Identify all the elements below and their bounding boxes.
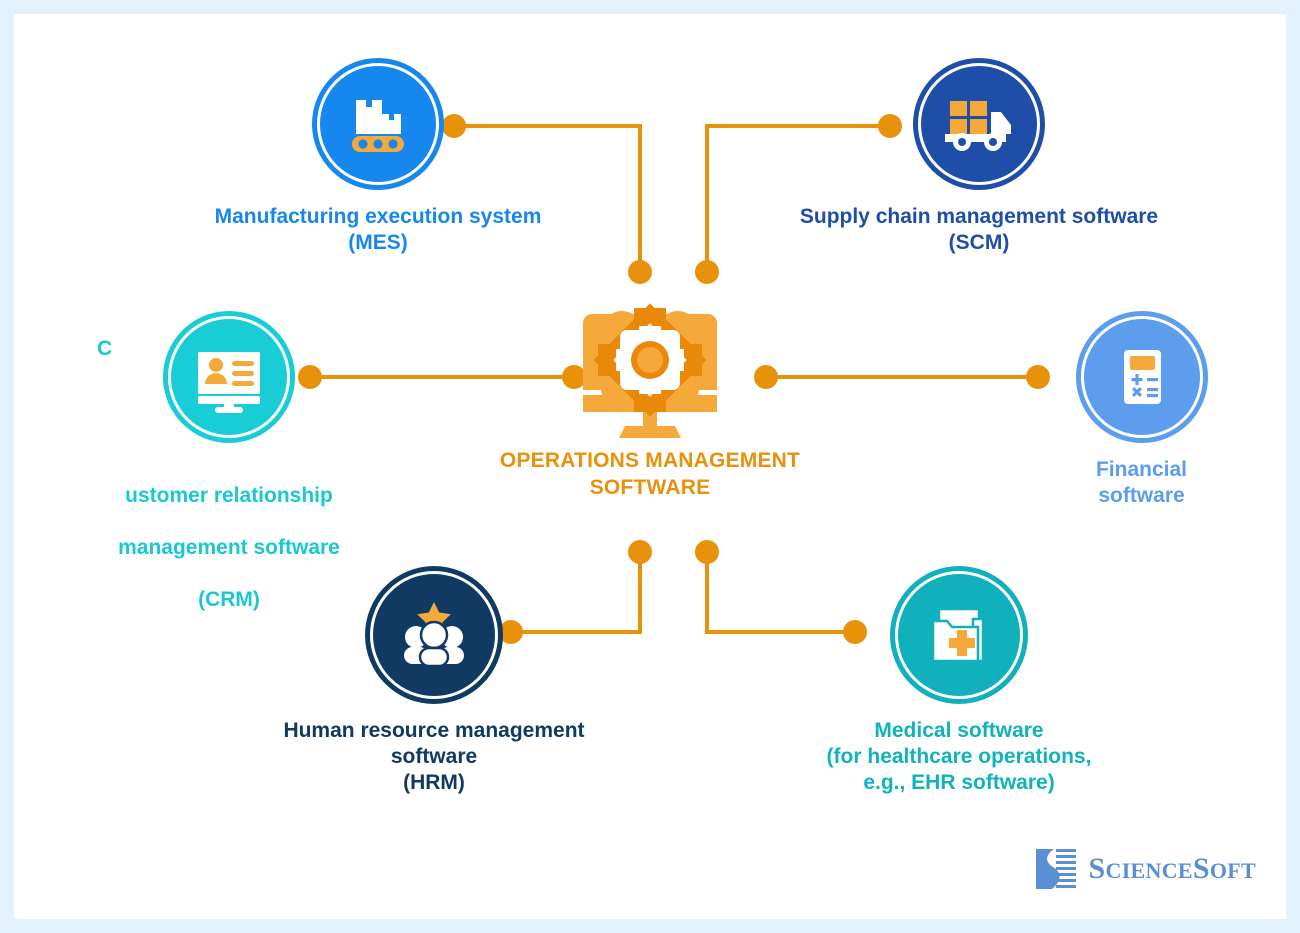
crm-icon-circle[interactable] <box>163 311 295 443</box>
hrm-label: Human resource management software (HRM) <box>224 718 644 796</box>
calculator-icon <box>1103 337 1181 417</box>
node-medical[interactable]: Medical software (for healthcare operati… <box>774 566 1144 796</box>
logo-text-s1: S <box>1089 852 1106 885</box>
people-star-icon <box>391 592 477 678</box>
scm-icon-circle[interactable] <box>913 58 1045 190</box>
crm-label-line-2: management software <box>69 535 389 561</box>
medical-icon-circle[interactable] <box>890 566 1028 704</box>
delivery-truck-icon <box>937 84 1021 164</box>
sciencesoft-wordmark: SCIENCESOFT <box>1089 852 1257 886</box>
logo-text-oft: OFT <box>1210 858 1256 883</box>
node-hrm[interactable]: Human resource management software (HRM) <box>224 566 644 796</box>
logo-text-cience: CIENCE <box>1106 858 1193 883</box>
logo-text-s2: S <box>1193 852 1210 885</box>
monitor-gears-icon <box>565 292 735 442</box>
financial-label: Financial software <box>1019 457 1264 509</box>
node-mes[interactable]: Manufacturing execution system (MES) <box>163 58 593 256</box>
mes-icon-circle[interactable] <box>312 58 444 190</box>
monitor-contact-icon <box>188 337 270 417</box>
medical-label: Medical software (for healthcare operati… <box>774 718 1144 796</box>
crm-label-line-1: ustomer relationship <box>69 483 389 509</box>
financial-icon-circle[interactable] <box>1076 311 1208 443</box>
mes-label: Manufacturing execution system (MES) <box>163 204 593 256</box>
node-scm[interactable]: Supply chain management software (SCM) <box>754 58 1204 256</box>
medical-records-icon <box>917 593 1001 677</box>
node-financial[interactable]: Financial software <box>1019 311 1264 509</box>
sciencesoft-s-mark-icon <box>1032 845 1080 893</box>
diagram-canvas: OPERATIONS MANAGEMENT SOFTWARE Manufactu… <box>14 14 1286 919</box>
conveyor-boxes-icon <box>338 84 418 164</box>
hrm-icon-circle[interactable] <box>365 566 503 704</box>
crm-label-dropcap: C <box>97 337 112 361</box>
scm-label: Supply chain management software (SCM) <box>754 204 1204 256</box>
sciencesoft-logo[interactable]: SCIENCESOFT <box>1032 845 1257 893</box>
